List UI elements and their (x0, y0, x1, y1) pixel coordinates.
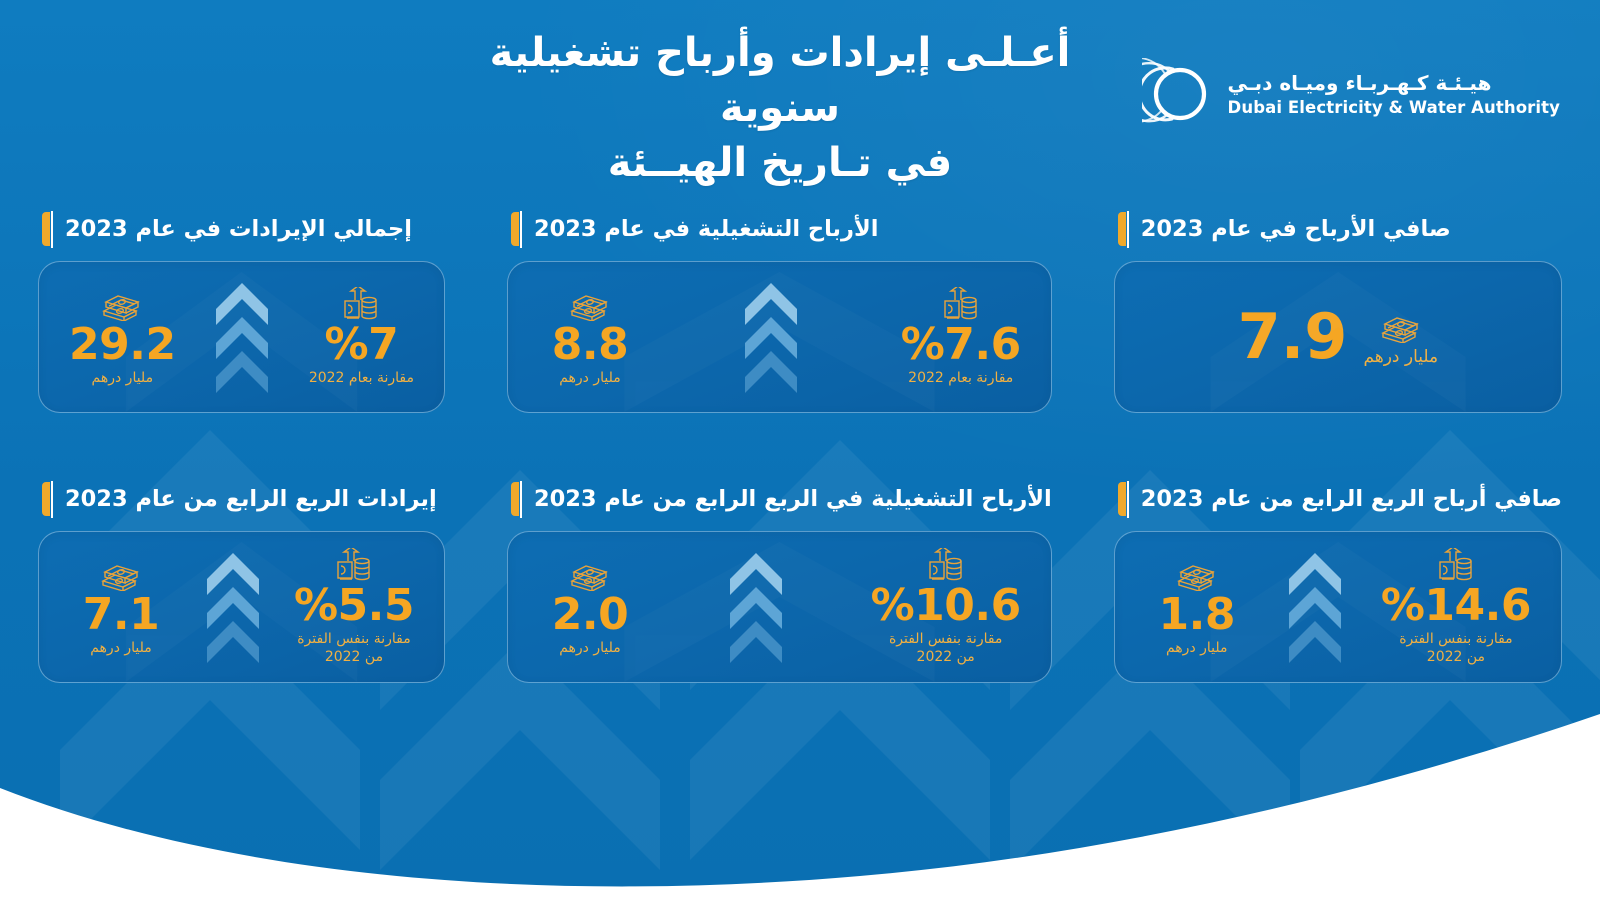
percent-caption: مقارنة بنفس الفترة من 2022 (297, 631, 410, 666)
triple-chevron-up-icon (717, 551, 795, 663)
triple-chevron-up-icon (194, 551, 272, 663)
percent-caption-line: مقارنة بعام 2022 (309, 370, 414, 388)
banknotes-icon (1381, 307, 1421, 343)
metric-cell-net-profit-2023: صافي الأرباح في عام 2023 7.9 مليار درهم (1114, 205, 1562, 413)
growth-coins-icon (941, 287, 981, 321)
banknotes-icon (102, 287, 142, 321)
value-block: 2.0 مليار درهم (538, 557, 642, 658)
page-title: أعـلـى إيرادات وأرباح تشغيلية سنوية في ت… (430, 26, 1130, 192)
value-block: 7.1 مليار درهم (69, 557, 173, 658)
growth-coins-icon (341, 287, 381, 321)
page-title-line-2: في تـاريخ الهيــئة (430, 136, 1130, 191)
cell-header: إيرادات الربع الرابع من عام 2023 (38, 475, 445, 523)
growth-coins-icon (1436, 548, 1476, 582)
cell-header: إجمالي الإيرادات في عام 2023 (38, 205, 445, 253)
gold-marker-icon (42, 212, 53, 246)
metric-card[interactable]: 2.0 مليار درهم %10.6 مقارنة بنفس الفترة … (507, 531, 1052, 683)
banknotes-icon (570, 287, 610, 321)
percent-caption-line: من 2022 (1399, 649, 1512, 667)
gold-marker-icon (1118, 482, 1129, 516)
metric-value: 7.1 (83, 593, 159, 637)
metric-cell-total-revenue-2023: إجمالي الإيرادات في عام 2023 29.2 مليار … (38, 205, 445, 413)
cell-title: إيرادات الربع الرابع من عام 2023 (65, 486, 437, 513)
growth-coins-icon (926, 548, 966, 582)
value-block: 29.2 مليار درهم (69, 287, 176, 388)
percent-block: %7.6 مقارنة بعام 2022 (901, 287, 1021, 388)
percent-caption-line: مقارنة بنفس الفترة (889, 631, 1002, 649)
gold-marker-icon (511, 212, 522, 246)
gold-marker-icon (42, 482, 53, 516)
gold-marker-icon (1118, 212, 1129, 246)
percent-caption: مقارنة بعام 2022 (908, 370, 1013, 388)
cell-header: الأرباح التشغيلية في الربع الرابع من عام… (507, 475, 1052, 523)
metric-card[interactable]: 7.1 مليار درهم %5.5 مقارنة بنفس الفترة م… (38, 531, 445, 683)
metric-card[interactable]: 7.9 مليار درهم (1114, 261, 1562, 413)
value-block: 1.8 مليار درهم (1145, 557, 1249, 658)
cell-title: الأرباح التشغيلية في عام 2023 (534, 216, 878, 243)
metric-percent: %7.6 (901, 323, 1021, 367)
banknotes-icon (101, 557, 141, 591)
cell-title: إجمالي الإيرادات في عام 2023 (65, 216, 412, 243)
logo-english-name: Dubai Electricity & Water Authority (1228, 98, 1560, 117)
percent-caption-line: مقارنة بنفس الفترة (297, 631, 410, 649)
metrics-grid: صافي الأرباح في عام 2023 7.9 مليار درهم (38, 205, 1562, 683)
triple-chevron-up-icon (732, 281, 810, 393)
cell-title: صافي أرباح الربع الرابع من عام 2023 (1141, 486, 1562, 513)
metric-percent: %14.6 (1381, 584, 1531, 628)
metric-percent: %7 (325, 323, 399, 367)
logo-arabic-name: هيـئـة كـهـربـاء وميـاه دبـي (1228, 71, 1492, 95)
value-caption: مليار درهم (559, 370, 621, 388)
dewa-swirl-logo-icon (1142, 58, 1214, 130)
metric-value: 8.8 (552, 323, 628, 367)
percent-caption: مقارنة بنفس الفترة من 2022 (1399, 631, 1512, 666)
logo-text: هيـئـة كـهـربـاء وميـاه دبـي Dubai Elect… (1228, 71, 1560, 117)
value-block: 8.8 مليار درهم (538, 287, 642, 388)
banknotes-icon (570, 557, 610, 591)
metric-value: 7.9 (1238, 306, 1348, 368)
percent-block: %7 مقارنة بعام 2022 (309, 287, 414, 388)
metric-cell-operating-profit-q4-2023: الأرباح التشغيلية في الربع الرابع من عام… (507, 475, 1052, 683)
metric-percent: %10.6 (871, 584, 1021, 628)
percent-caption: مقارنة بنفس الفترة من 2022 (889, 631, 1002, 666)
metric-value: 2.0 (552, 593, 628, 637)
percent-caption-line: مقارنة بعام 2022 (908, 370, 1013, 388)
page-title-line-1: أعـلـى إيرادات وأرباح تشغيلية سنوية (490, 30, 1071, 131)
percent-block: %5.5 مقارنة بنفس الفترة من 2022 (294, 548, 414, 666)
percent-caption-line: من 2022 (889, 649, 1002, 667)
metric-cell-revenue-q4-2023: إيرادات الربع الرابع من عام 2023 7.1 ملي… (38, 475, 445, 683)
value-caption: مليار درهم (92, 370, 154, 388)
metric-value: 29.2 (69, 323, 176, 367)
percent-caption-line: من 2022 (297, 649, 410, 667)
gold-marker-icon (511, 482, 522, 516)
metric-card[interactable]: 29.2 مليار درهم %7 مقارنة بعام 2022 (38, 261, 445, 413)
cell-header: صافي أرباح الربع الرابع من عام 2023 (1114, 475, 1562, 523)
metric-card[interactable]: 8.8 مليار درهم %7.6 مقارنة بعام 2022 (507, 261, 1052, 413)
percent-caption: مقارنة بعام 2022 (309, 370, 414, 388)
cell-header: صافي الأرباح في عام 2023 (1114, 205, 1562, 253)
banknotes-icon (1177, 557, 1217, 591)
percent-block: %14.6 مقارنة بنفس الفترة من 2022 (1381, 548, 1531, 666)
percent-caption-line: مقارنة بنفس الفترة (1399, 631, 1512, 649)
value-block: 7.9 مليار درهم (1238, 306, 1439, 368)
triple-chevron-up-icon (203, 281, 281, 393)
percent-block: %10.6 مقارنة بنفس الفترة من 2022 (871, 548, 1021, 666)
cell-title: صافي الأرباح في عام 2023 (1141, 216, 1451, 243)
metric-cell-operating-profit-2023: الأرباح التشغيلية في عام 2023 8.8 مليار … (507, 205, 1052, 413)
triple-chevron-up-icon (1276, 551, 1354, 663)
metric-value: 1.8 (1159, 593, 1235, 637)
metric-cell-net-profit-q4-2023: صافي أرباح الربع الرابع من عام 2023 1.8 … (1114, 475, 1562, 683)
value-caption: مليار درهم (1166, 640, 1228, 658)
bottom-wave-decoration (0, 670, 1600, 900)
cell-header: الأرباح التشغيلية في عام 2023 (507, 205, 1052, 253)
value-caption: مليار درهم (1363, 347, 1438, 367)
header: أعـلـى إيرادات وأرباح تشغيلية سنوية في ت… (0, 0, 1600, 185)
value-caption: مليار درهم (90, 640, 152, 658)
growth-coins-icon (334, 548, 374, 582)
metric-card[interactable]: 1.8 مليار درهم %14.6 مقارنة بنفس الفترة … (1114, 531, 1562, 683)
dewa-logo: هيـئـة كـهـربـاء وميـاه دبـي Dubai Elect… (1142, 58, 1560, 130)
metric-percent: %5.5 (294, 584, 414, 628)
value-caption: مليار درهم (559, 640, 621, 658)
cell-title: الأرباح التشغيلية في الربع الرابع من عام… (534, 486, 1052, 513)
